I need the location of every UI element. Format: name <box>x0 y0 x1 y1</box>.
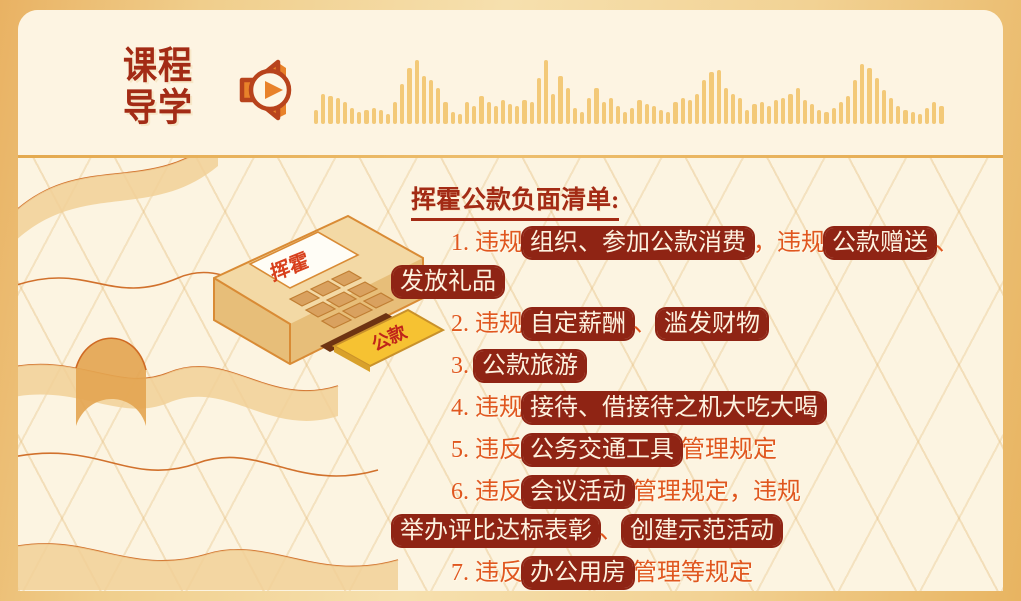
waveform-bar <box>774 100 778 124</box>
waveform-bar <box>724 88 728 124</box>
plain-phrase: 违规 <box>475 395 523 421</box>
waveform-bar <box>522 100 526 124</box>
waveform-bar <box>350 108 354 124</box>
waveform-bar <box>867 68 871 124</box>
list-item: 1. 违规组织、参加公款消费，违规公款赠送、发放礼品 <box>393 224 978 302</box>
waveform-bar <box>925 108 929 124</box>
waveform-bar <box>422 76 426 124</box>
speaker-play-icon[interactable] <box>226 52 302 128</box>
waveform-bar <box>479 96 483 124</box>
waveform-bar <box>781 98 785 124</box>
highlight-phrase: 创建示范活动 <box>623 516 781 546</box>
waveform-bar <box>637 100 641 124</box>
waveform-bar <box>443 102 447 124</box>
list-item-number: 5. <box>451 437 475 463</box>
waveform-bar <box>379 110 383 124</box>
waveform-bar <box>458 114 462 124</box>
negative-list: 挥霍公款负面清单: 1. 违规组织、参加公款消费，违规公款赠送、发放礼品2. 违… <box>393 180 978 591</box>
waveform-bar <box>839 102 843 124</box>
waveform-bar <box>537 78 541 124</box>
waveform-bar <box>364 110 368 124</box>
highlight-phrase: 发放礼品 <box>393 267 503 297</box>
plain-phrase: 违规 <box>475 311 523 337</box>
waveform-bar <box>508 104 512 124</box>
waveform-bar <box>645 104 649 124</box>
highlight-phrase: 组织、参加公款消费 <box>523 228 753 258</box>
waveform-bar <box>407 68 411 124</box>
list-title: 挥霍公款负面清单: <box>411 180 619 221</box>
list-item-number: 7. <box>451 560 475 586</box>
highlight-phrase: 滥发财物 <box>657 309 767 339</box>
plain-phrase: 违反 <box>475 479 523 505</box>
plain-phrase: 违反 <box>475 560 523 586</box>
waveform-bar <box>695 94 699 124</box>
highlight-phrase: 举办评比达标表彰 <box>393 516 599 546</box>
waveform-bar <box>824 112 828 124</box>
waveform-bar <box>501 100 505 124</box>
waveform-bar <box>673 102 677 124</box>
waveform-bar <box>860 64 864 124</box>
waveform-bar <box>357 112 361 124</box>
waveform-bar <box>788 94 792 124</box>
waveform-bar <box>386 114 390 124</box>
waveform-bar <box>846 96 850 124</box>
plain-phrase: ，违规 <box>753 230 825 256</box>
waveform-bar <box>889 98 893 124</box>
highlight-phrase: 办公用房 <box>523 558 633 588</box>
plain-phrase: 违反 <box>475 437 523 463</box>
poster-card: 课程 导学 <box>18 10 1003 591</box>
waveform-bar <box>400 84 404 124</box>
waveform-bar <box>738 98 742 124</box>
list-item: 3. 公款旅游 <box>393 347 978 386</box>
highlight-phrase: 公款旅游 <box>475 351 585 381</box>
waveform-bar <box>487 102 491 124</box>
list-item-number: 3. <box>451 353 475 379</box>
list-item-number: 4. <box>451 395 475 421</box>
waveform-bar <box>882 90 886 124</box>
highlight-phrase: 会议活动 <box>523 477 633 507</box>
waveform-bar <box>343 102 347 124</box>
waveform-bar <box>494 106 498 124</box>
waveform-bar <box>903 110 907 124</box>
waveform-bar <box>630 108 634 124</box>
waveform-bar <box>451 112 455 124</box>
waveform-bar <box>328 96 332 124</box>
logo-line-1: 课程 <box>106 46 210 86</box>
content-body: 挥霍 <box>18 158 1003 591</box>
waveform-bar <box>314 110 318 124</box>
waveform-bar <box>652 106 656 124</box>
waveform-bar <box>602 102 606 124</box>
poster-root: 课程 导学 <box>0 0 1021 601</box>
waveform-bar <box>688 100 692 124</box>
header-band: 课程 导学 <box>18 10 1003 155</box>
waveform-bar <box>573 108 577 124</box>
waveform-bar <box>515 106 519 124</box>
waveform-bar <box>551 94 555 124</box>
plain-phrase: 管理规定 <box>681 437 777 463</box>
waveform-bar <box>372 108 376 124</box>
list-item-number: 2. <box>451 311 475 337</box>
waveform-bar <box>896 106 900 124</box>
waveform-bar <box>875 78 879 124</box>
waveform-bar <box>429 80 433 124</box>
waveform-bar <box>659 110 663 124</box>
plain-phrase: 管理规定，违规 <box>633 479 801 505</box>
waveform-bar <box>415 60 419 124</box>
waveform-bar <box>752 104 756 124</box>
list-items: 1. 违规组织、参加公款消费，违规公款赠送、发放礼品2. 违规自定薪酬、滥发财物… <box>393 224 978 591</box>
pos-terminal-illustration: 挥霍 <box>18 158 458 591</box>
list-item-number: 6. <box>451 479 475 505</box>
highlight-phrase: 公务交通工具 <box>523 435 681 465</box>
waveform-bar <box>436 88 440 124</box>
waveform-bar <box>609 98 613 124</box>
highlight-phrase: 公款赠送 <box>825 228 935 258</box>
waveform-bar <box>717 70 721 124</box>
course-guide-logo: 课程 导学 <box>106 46 210 130</box>
waveform-bar <box>702 80 706 124</box>
waveform-bar <box>817 110 821 124</box>
waveform-bar <box>932 102 936 124</box>
waveform-bar <box>709 72 713 124</box>
plain-phrase: 违规 <box>475 230 523 256</box>
waveform-bar <box>918 114 922 124</box>
waveform-bar <box>336 98 340 124</box>
plain-phrase: 、 <box>633 311 657 337</box>
waveform-bar <box>623 112 627 124</box>
highlight-phrase: 接待、借接待之机大吃大喝 <box>523 393 825 423</box>
waveform-bar <box>810 104 814 124</box>
plain-phrase: 、 <box>935 230 959 256</box>
waveform-bar <box>745 110 749 124</box>
waveform-bar <box>594 88 598 124</box>
list-item: 2. 违规自定薪酬、滥发财物 <box>393 305 978 344</box>
waveform-bar <box>321 94 325 124</box>
waveform-bar <box>616 106 620 124</box>
waveform-bar <box>666 112 670 124</box>
highlight-phrase: 自定薪酬 <box>523 309 633 339</box>
plain-phrase: 管理等规定 <box>633 560 753 586</box>
waveform-bar <box>939 106 943 124</box>
list-item-number: 1. <box>451 230 475 256</box>
waveform-bar <box>760 102 764 124</box>
plain-phrase: 、 <box>599 518 623 544</box>
waveform-bar <box>530 102 534 124</box>
waveform-bar <box>558 76 562 124</box>
waveform-bar <box>465 102 469 124</box>
waveform-bar <box>681 98 685 124</box>
list-item: 7. 违反办公用房管理等规定 <box>393 554 978 591</box>
list-item: 4. 违规接待、借接待之机大吃大喝 <box>393 389 978 428</box>
waveform-bar <box>767 106 771 124</box>
waveform-bar <box>472 106 476 124</box>
waveform-bar <box>832 108 836 124</box>
waveform-bar <box>544 60 548 124</box>
audio-waveform[interactable] <box>314 58 944 124</box>
waveform-bar <box>393 102 397 124</box>
logo-line-2: 导学 <box>106 88 210 128</box>
waveform-bar <box>731 94 735 124</box>
waveform-bar <box>796 88 800 124</box>
waveform-bar <box>803 100 807 124</box>
waveform-bar <box>580 112 584 124</box>
waveform-bar <box>853 80 857 124</box>
list-item: 5. 违反公务交通工具管理规定 <box>393 431 978 470</box>
list-item: 6. 违反会议活动管理规定，违规举办评比达标表彰、创建示范活动 <box>393 473 978 551</box>
waveform-bar <box>587 98 591 124</box>
waveform-bar <box>911 112 915 124</box>
waveform-bar <box>566 88 570 124</box>
